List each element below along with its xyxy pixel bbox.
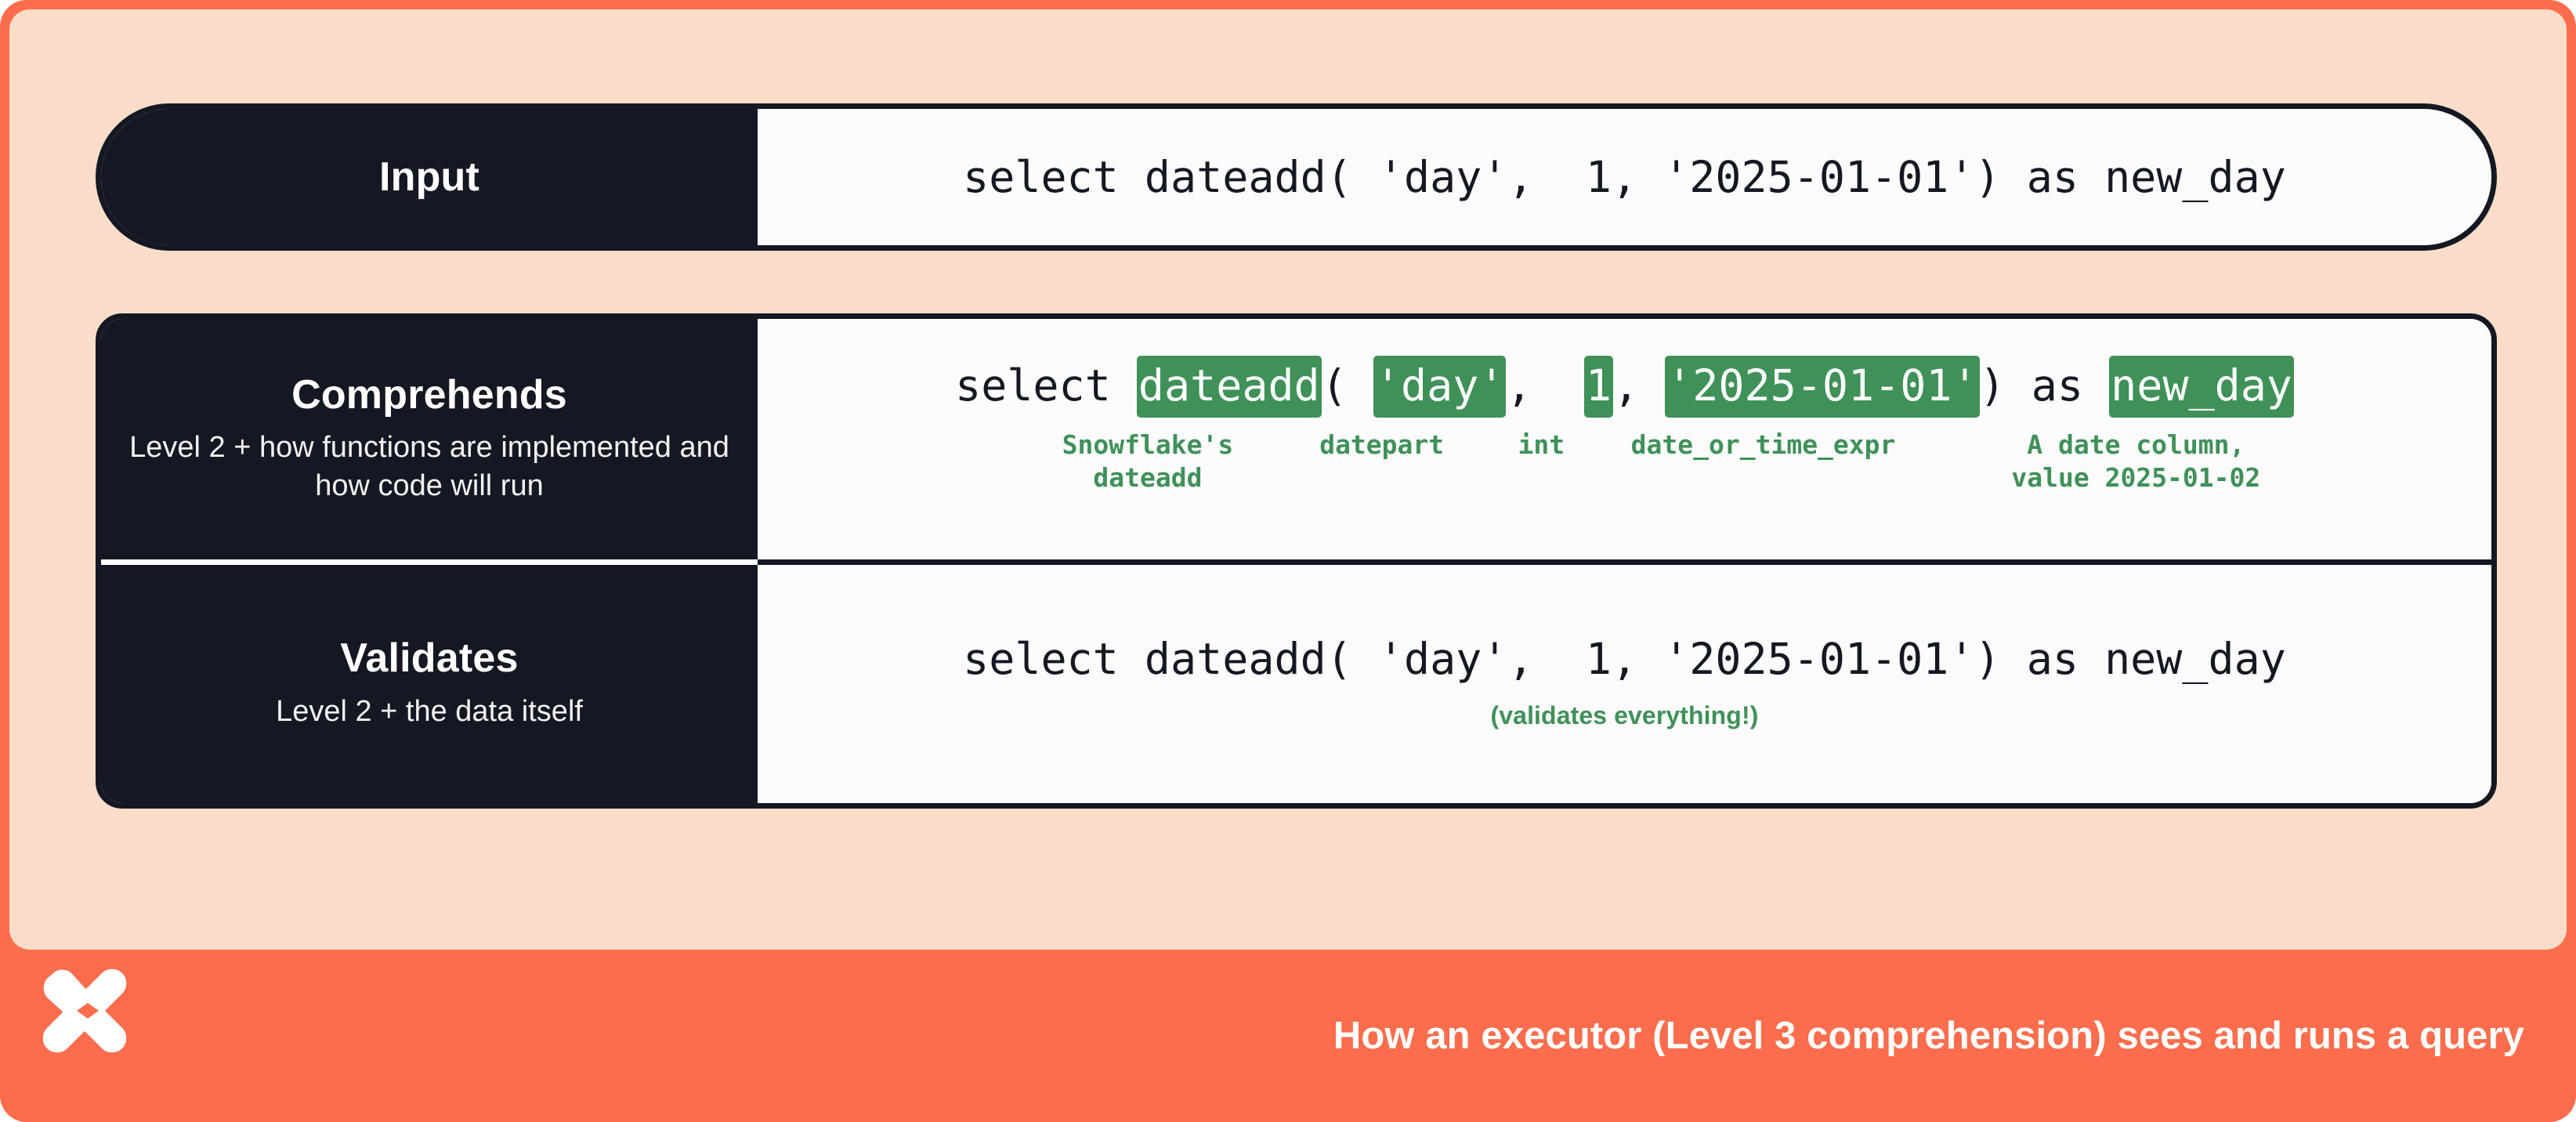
code-annotation: Snowflake's dateadd bbox=[1062, 429, 1234, 494]
code-annotation: datepart bbox=[1319, 429, 1444, 461]
row-validates-code-col: select dateadd( 'day', 1, '2025-01-01') … bbox=[758, 565, 2491, 803]
code-annotation: date_or_time_expr bbox=[1631, 429, 1896, 461]
row-divider-right bbox=[758, 559, 2491, 565]
row-comprehends-label-col: Comprehends Level 2 + how functions are … bbox=[101, 319, 758, 559]
row-input-code: select dateadd( 'day', 1, '2025-01-01') … bbox=[963, 156, 2286, 199]
footer-caption: How an executor (Level 3 comprehension) … bbox=[1333, 1014, 2524, 1058]
row-divider-left bbox=[101, 559, 758, 565]
diagram-canvas: Input select dateadd( 'day', 1, '2025-01… bbox=[9, 9, 2567, 950]
code-token: ( bbox=[1322, 364, 1373, 407]
row-input-title: Input bbox=[379, 156, 479, 199]
rows-comprehends-validates-card: Comprehends Level 2 + how functions are … bbox=[96, 313, 2497, 809]
row-validates-code: select dateadd( 'day', 1, '2025-01-01') … bbox=[963, 638, 2286, 681]
row-comprehends-code-col: select dateadd( 'day', 1, '2025-01-01') … bbox=[758, 319, 2491, 559]
code-token: ) as bbox=[1980, 364, 2110, 407]
code-token-highlighted: 'day' bbox=[1373, 356, 1507, 418]
row-input-label-col: Input bbox=[101, 109, 758, 245]
row-validates-title: Validates bbox=[340, 637, 518, 680]
diagram-frame: Input select dateadd( 'day', 1, '2025-01… bbox=[0, 0, 2576, 1122]
butterfly-x-logo bbox=[41, 967, 135, 1055]
code-token: , bbox=[1506, 364, 1583, 407]
row-validates-note: (validates everything!) bbox=[1491, 701, 1759, 730]
code-token: select bbox=[955, 364, 1137, 407]
code-token-highlighted: '2025-01-01' bbox=[1665, 356, 1979, 418]
row-comprehends-code: select dateadd( 'day', 1, '2025-01-01') … bbox=[955, 356, 2294, 418]
code-annotation: int bbox=[1518, 429, 1565, 461]
row-input: Input select dateadd( 'day', 1, '2025-01… bbox=[96, 103, 2497, 251]
row-comprehends-annotations: Snowflake's dateadddatepartintdate_or_ti… bbox=[758, 429, 2491, 523]
row-validates: Validates Level 2 + the data itself sele… bbox=[101, 565, 2491, 803]
row-input-code-col: select dateadd( 'day', 1, '2025-01-01') … bbox=[758, 109, 2491, 245]
code-annotation: A date column, value 2025-01-02 bbox=[2011, 429, 2260, 494]
row-validates-subtitle: Level 2 + the data itself bbox=[276, 693, 583, 731]
footer-bar: How an executor (Level 3 comprehension) … bbox=[0, 950, 2576, 1122]
row-comprehends-subtitle: Level 2 + how functions are implemented … bbox=[121, 429, 737, 505]
row-validates-label-col: Validates Level 2 + the data itself bbox=[101, 565, 758, 803]
row-comprehends-title: Comprehends bbox=[291, 374, 567, 417]
code-token-highlighted: new_day bbox=[2109, 356, 2294, 418]
row-comprehends: Comprehends Level 2 + how functions are … bbox=[101, 319, 2491, 559]
code-token: , bbox=[1613, 364, 1665, 407]
row-divider bbox=[101, 559, 2491, 565]
code-token-highlighted: dateadd bbox=[1137, 356, 1322, 418]
code-token-highlighted: 1 bbox=[1584, 356, 1613, 418]
